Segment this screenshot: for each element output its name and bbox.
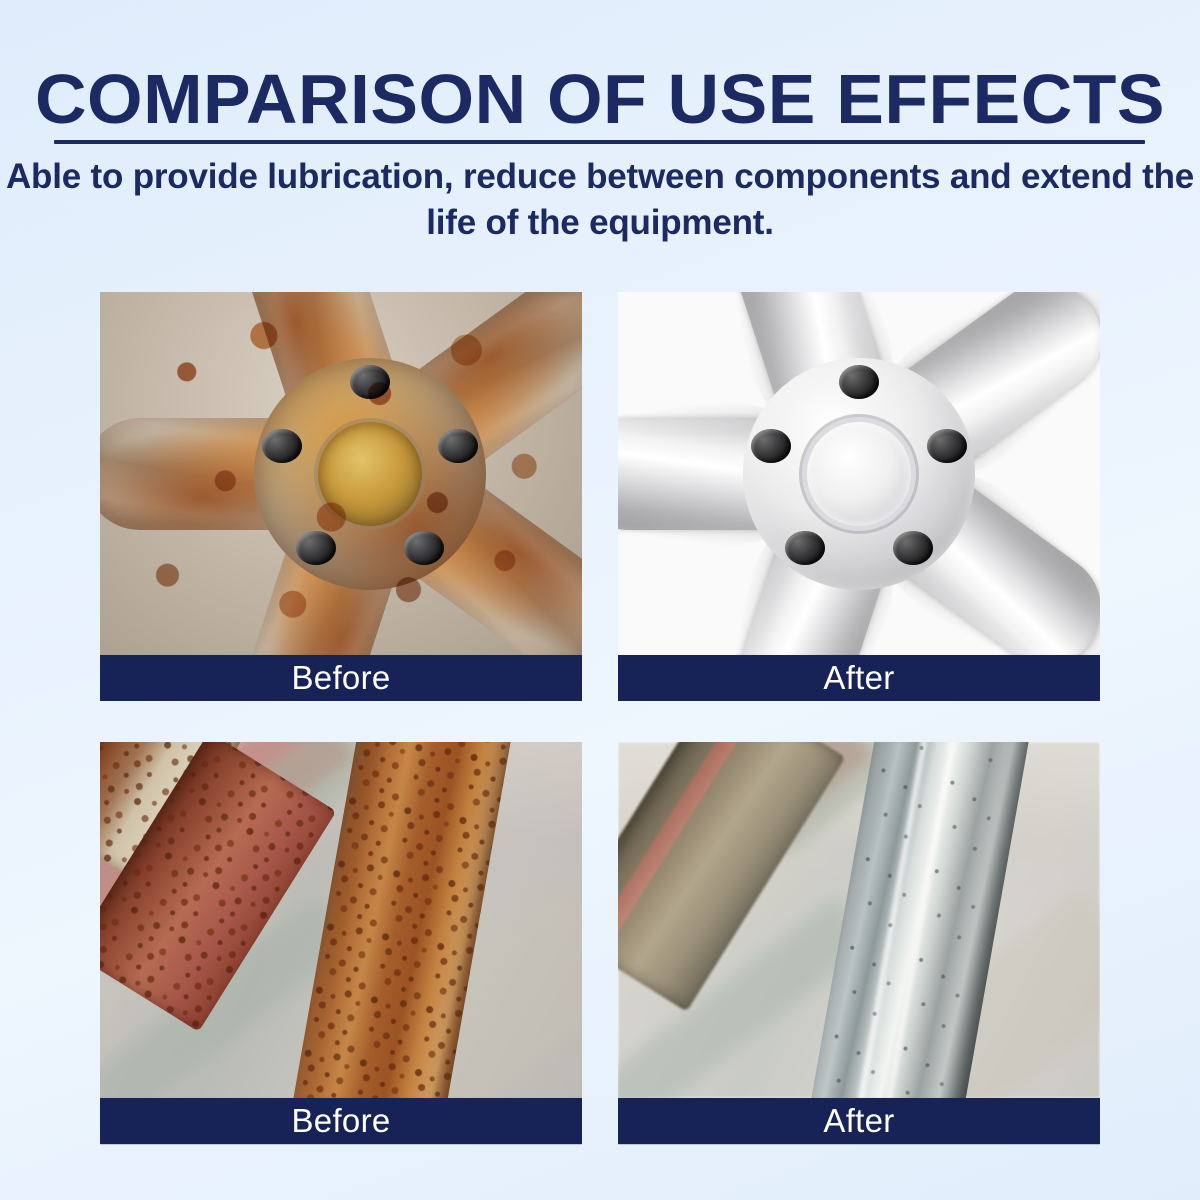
clean-wheel-image bbox=[618, 292, 1100, 655]
comparison-grid: Before bbox=[100, 292, 1100, 1145]
page-title: COMPARISON OF USE EFFECTS bbox=[0, 0, 1200, 136]
lug-nut bbox=[785, 531, 825, 565]
comparison-card-wheel-after: After bbox=[618, 292, 1100, 701]
page-subtitle: Able to provide lubrication, reduce betw… bbox=[0, 136, 1200, 246]
wheel-center-cap bbox=[318, 422, 422, 526]
comparison-card-wheel-before: Before bbox=[100, 292, 582, 701]
lug-nut bbox=[262, 429, 302, 463]
comparison-card-pipe-before: Before bbox=[100, 742, 582, 1145]
wheel-body bbox=[100, 292, 582, 655]
rusty-wheel-image bbox=[100, 292, 582, 655]
photo-pipe-after bbox=[618, 742, 1100, 1098]
photo-wheel-after bbox=[618, 292, 1100, 655]
caption-after: After bbox=[618, 655, 1100, 701]
wheel-center-cap bbox=[807, 422, 911, 526]
lug-nut bbox=[751, 429, 791, 463]
lug-nut bbox=[839, 365, 879, 399]
photo-pipe-before bbox=[100, 742, 582, 1098]
title-divider bbox=[54, 140, 1145, 144]
infographic-page: COMPARISON OF USE EFFECTS Able to provid… bbox=[0, 0, 1200, 1200]
lug-nut bbox=[296, 531, 336, 565]
caption-before: Before bbox=[100, 655, 582, 701]
caption-before: Before bbox=[100, 1098, 582, 1144]
caption-after: After bbox=[618, 1098, 1100, 1144]
lug-nut bbox=[350, 365, 390, 399]
lug-nut bbox=[893, 531, 933, 565]
lug-nut bbox=[438, 429, 478, 463]
wheel-body bbox=[618, 292, 1100, 655]
lug-nut bbox=[927, 429, 967, 463]
comparison-card-pipe-after: After bbox=[618, 742, 1100, 1145]
photo-wheel-before bbox=[100, 292, 582, 655]
header: COMPARISON OF USE EFFECTS Able to provid… bbox=[0, 0, 1200, 246]
lug-nut bbox=[404, 531, 444, 565]
rusty-pipe-image bbox=[100, 742, 582, 1098]
clean-pipe-image bbox=[618, 742, 1100, 1098]
